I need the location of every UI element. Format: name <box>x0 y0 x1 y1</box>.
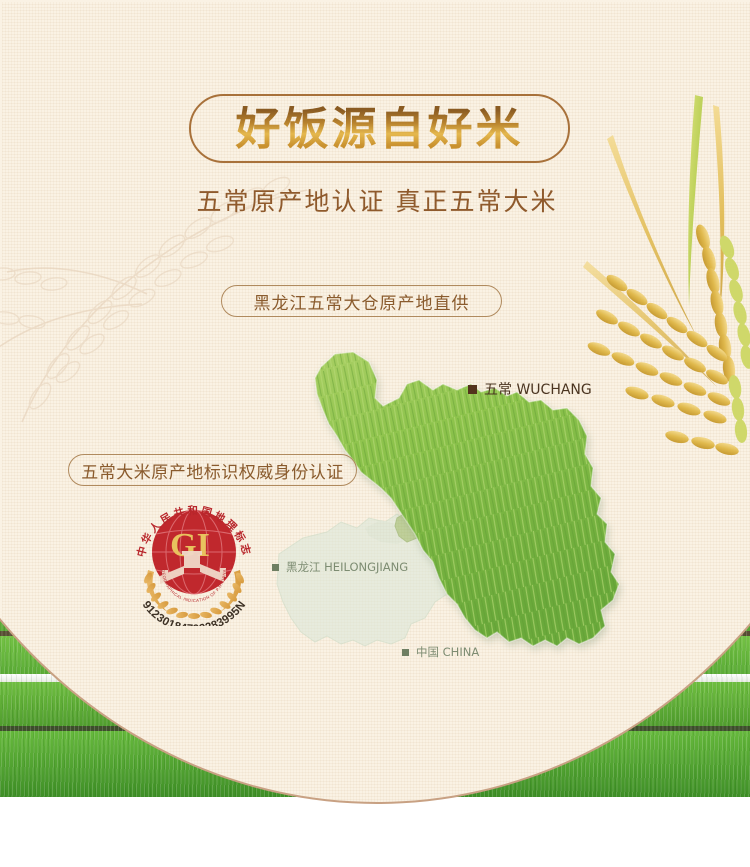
wuchang-label-text: 五常 WUCHANG <box>484 379 592 399</box>
china-marker-icon <box>402 649 409 656</box>
product-detail-banner: GI 中华人民共和国地理标志 GEOGRAPHICAL INDICATION O… <box>0 0 750 867</box>
origin-supply-badge: 黑龙江五常大仓原产地直供 <box>221 285 502 317</box>
seal-code-text: 91230184799283995N <box>140 599 249 626</box>
page-title: 好饭源自好米 <box>235 106 523 151</box>
gi-geographical-indication-seal: GI 中华人民共和国地理标志 GEOGRAPHICAL INDICATION O… <box>128 494 260 626</box>
card-content: GI 中华人民共和国地理标志 GEOGRAPHICAL INDICATION O… <box>2 2 750 804</box>
wuchang-marker-icon <box>468 385 477 394</box>
china-label-text: 中国 CHINA <box>416 644 479 660</box>
map-label-china: 中国 CHINA <box>402 644 479 660</box>
map-label-wuchang: 五常 WUCHANG <box>468 379 592 399</box>
map-label-heilongjiang: 黑龙江 HEILONGJIANG <box>272 559 408 575</box>
heilongjiang-marker-icon <box>272 564 279 571</box>
certification-badge: 五常大米原产地标识权威身份认证 <box>68 454 357 486</box>
cream-oval-card: GI 中华人民共和国地理标志 GEOGRAPHICAL INDICATION O… <box>0 0 750 804</box>
golden-rice-plant-icon <box>577 87 750 517</box>
page-subtitle: 五常原产地认证 真正五常大米 <box>2 182 750 218</box>
origin-supply-label: 黑龙江五常大仓原产地直供 <box>254 289 470 314</box>
heilongjiang-label-text: 黑龙江 HEILONGJIANG <box>286 559 408 575</box>
headline-pill: 好饭源自好米 <box>189 94 570 163</box>
certification-label: 五常大米原产地标识权威身份认证 <box>81 458 344 483</box>
